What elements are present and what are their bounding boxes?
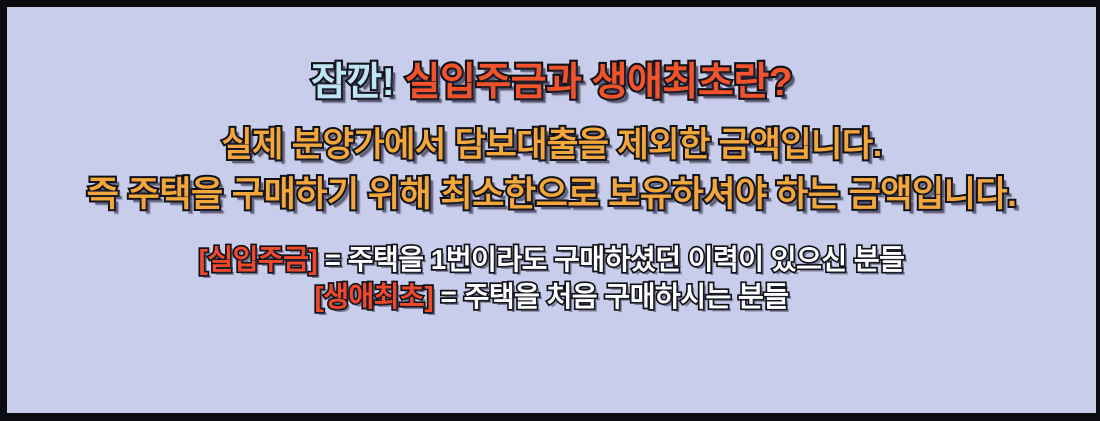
body-line-1: 실제 분양가에서 담보대출을 제외한 금액입니다. <box>221 128 881 163</box>
definition-spacer-1b <box>340 244 347 275</box>
definition-spacer-2b <box>456 281 463 312</box>
definition-equals-1: = <box>325 244 341 275</box>
definition-term-1: [실입주금] <box>199 244 318 275</box>
title-attention: 잠깐! <box>311 61 394 104</box>
slide-content: 잠깐! 실입주금과 생애최초란? 실제 분양가에서 담보대출을 제외한 금액입니… <box>7 7 1096 413</box>
definition-description-1: 주택을 1번이라도 구매하셨던 이력이 있으신 분들 <box>348 244 905 275</box>
definition-equals-2: = <box>440 281 456 312</box>
definition-row-1: [실입주금] = 주택을 1번이라도 구매하셨던 이력이 있으신 분들 <box>199 245 905 274</box>
definition-spacer-1a <box>317 244 324 275</box>
definition-description-2: 주택을 처음 구매하시는 분들 <box>464 281 789 312</box>
title-space <box>394 61 404 104</box>
page-title: 잠깐! 실입주금과 생애최초란? <box>311 63 792 104</box>
title-question: 실입주금과 생애최초란? <box>405 61 792 104</box>
definition-term-2: [생애최초] <box>314 281 433 312</box>
definition-row-2: [생애최초] = 주택을 처음 구매하시는 분들 <box>314 282 788 311</box>
info-slide: 잠깐! 실입주금과 생애최초란? 실제 분양가에서 담보대출을 제외한 금액입니… <box>0 0 1100 421</box>
body-line-2: 즉 주택을 구매하기 위해 최소한으로 보유하셔야 하는 금액입니다. <box>87 177 1017 213</box>
